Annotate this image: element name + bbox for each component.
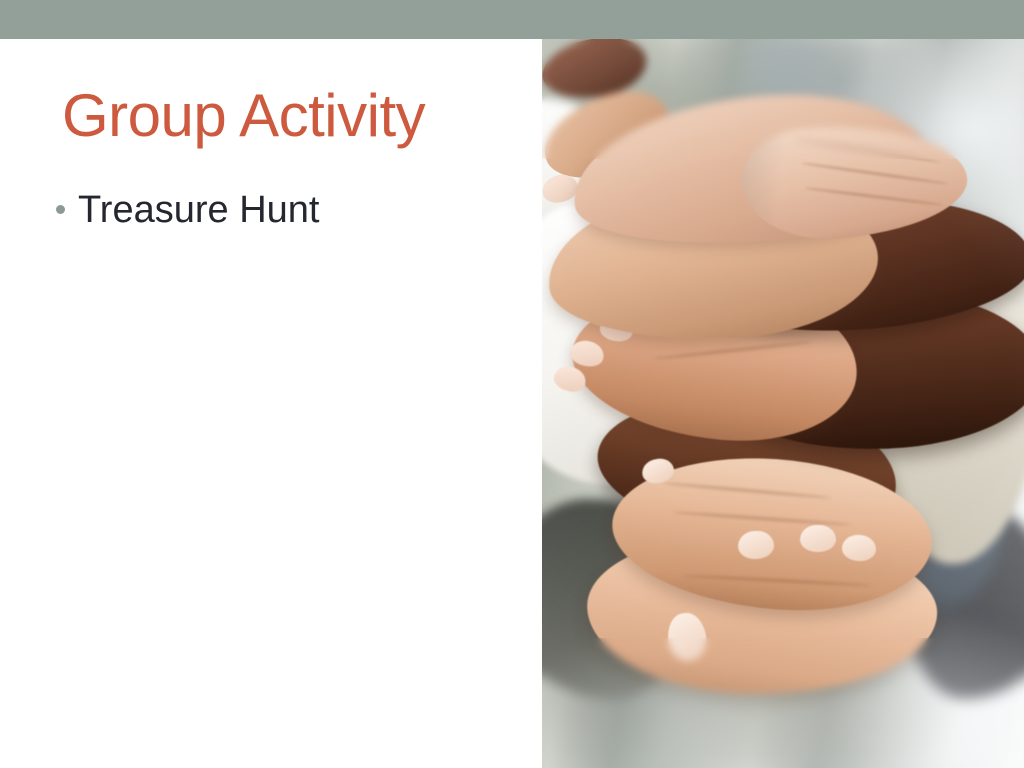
text-content-column: Group Activity Treasure Hunt: [0, 39, 542, 768]
page-title: Group Activity: [62, 84, 522, 147]
slide: Group Activity Treasure Hunt: [0, 0, 1024, 768]
top-accent-band: [0, 0, 1024, 39]
bullet-list: Treasure Hunt: [56, 189, 526, 240]
stacked-hands-teamwork-photo: [542, 39, 1024, 768]
fingernail: [800, 525, 836, 552]
list-item: Treasure Hunt: [56, 189, 526, 232]
bullet-dot-icon: [56, 205, 65, 214]
list-item-label: Treasure Hunt: [78, 189, 319, 232]
